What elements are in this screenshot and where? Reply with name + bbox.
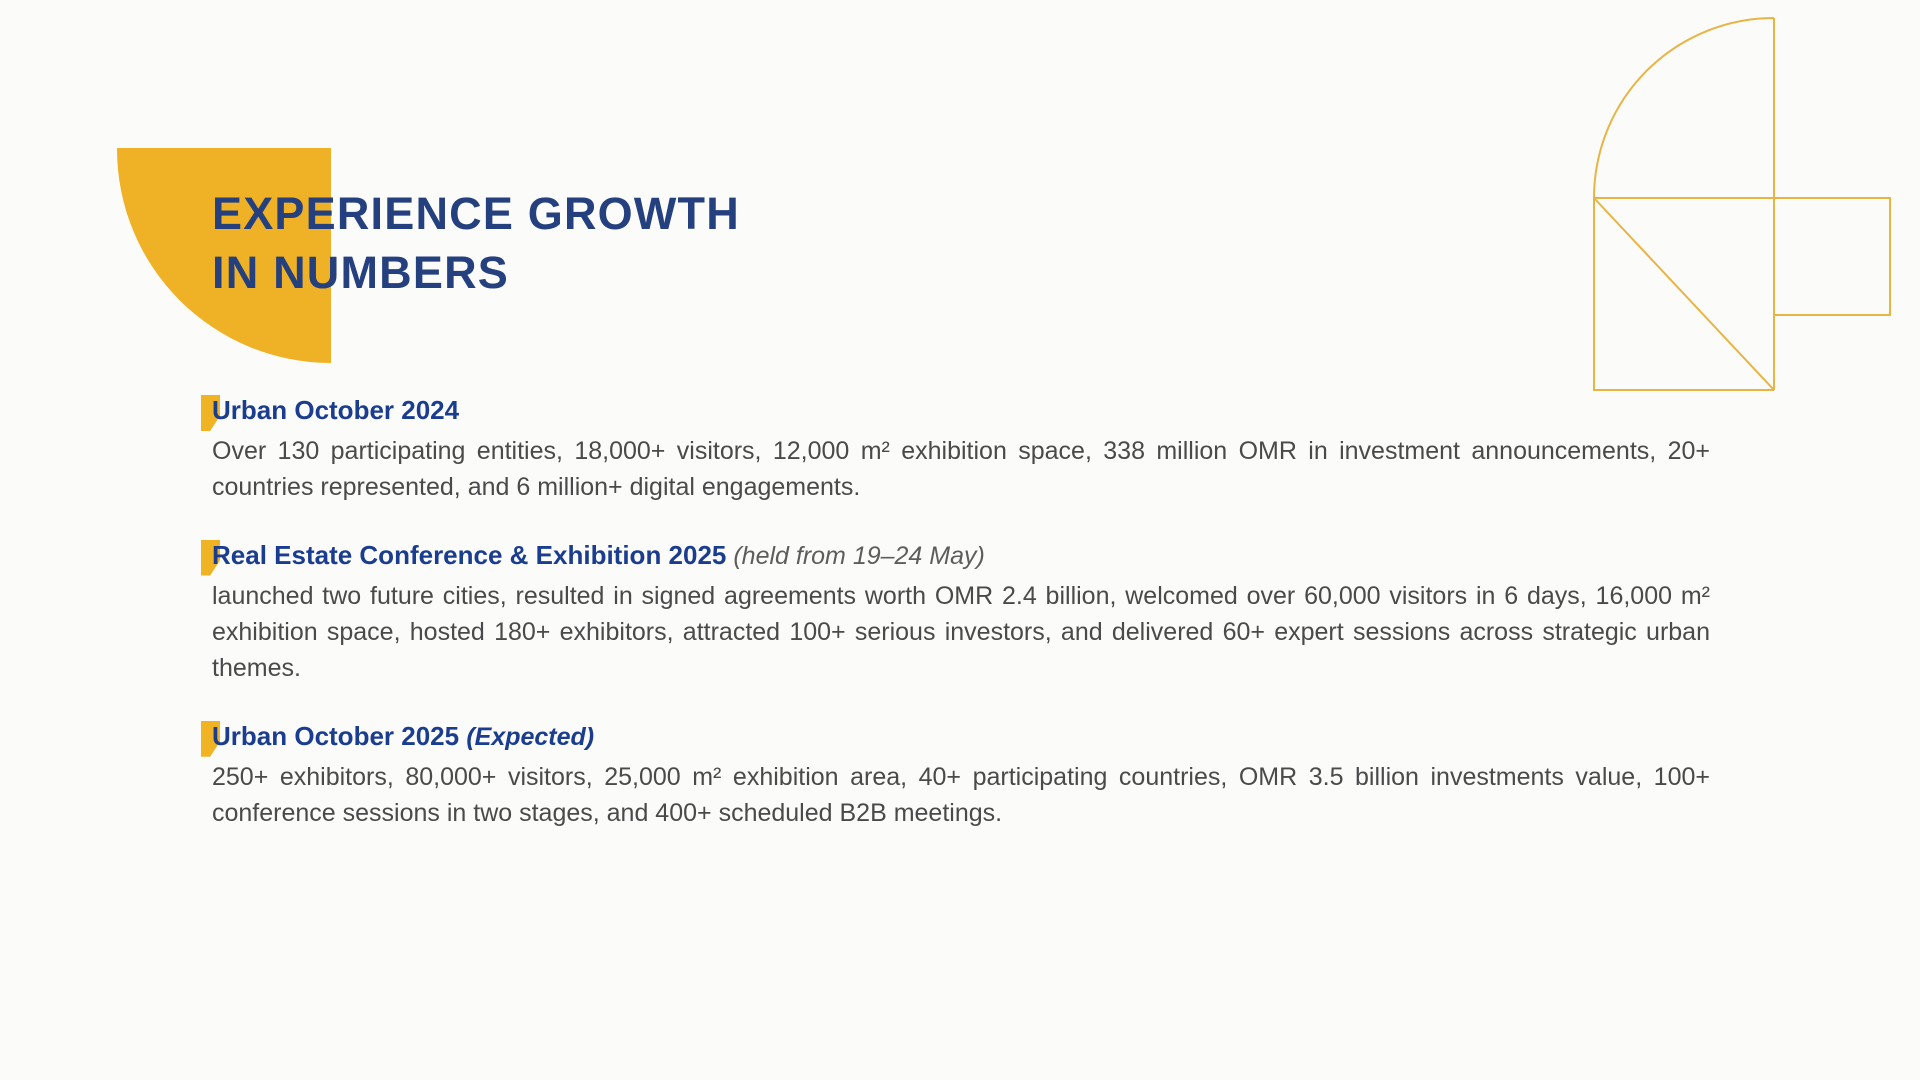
section-body-text: launched two future cities, resulted in … (212, 578, 1710, 686)
section-urban-october-2024: Urban October 2024 Over 130 participatin… (212, 394, 1712, 505)
section-heading-note: (held from 19–24 May) (726, 542, 984, 570)
section-heading-label: Urban October 2024 (212, 395, 459, 425)
title-block: EXPERIENCE GROWTH IN NUMBERS (0, 0, 1000, 400)
section-heading: Real Estate Conference & Exhibition 2025… (212, 539, 1712, 572)
section-body-text: Over 130 participating entities, 18,000+… (212, 433, 1710, 505)
section-heading: Urban October 2024 (212, 394, 1712, 427)
section-heading: Urban October 2025 (Expected) (212, 720, 1712, 753)
section-real-estate-conference-2025: Real Estate Conference & Exhibition 2025… (212, 539, 1712, 686)
content-area: Urban October 2024 Over 130 participatin… (212, 394, 1712, 831)
section-heading-note: (Expected) (466, 723, 594, 751)
section-urban-october-2025-expected: Urban October 2025 (Expected) 250+ exhib… (212, 720, 1712, 831)
page-title: EXPERIENCE GROWTH IN NUMBERS (212, 184, 740, 303)
left-square-edges (1594, 198, 1774, 390)
geometric-lineart-decoration (1560, 0, 1920, 420)
arc-quarter-circle (1594, 18, 1774, 198)
diagonal-line (1594, 198, 1774, 390)
lineart-svg (1560, 0, 1920, 420)
section-body-text: 250+ exhibitors, 80,000+ visitors, 25,00… (212, 759, 1710, 831)
square-outline (1774, 198, 1890, 315)
section-heading-label: Real Estate Conference & Exhibition 2025 (212, 540, 726, 570)
section-heading-label: Urban October 2025 (212, 721, 466, 751)
